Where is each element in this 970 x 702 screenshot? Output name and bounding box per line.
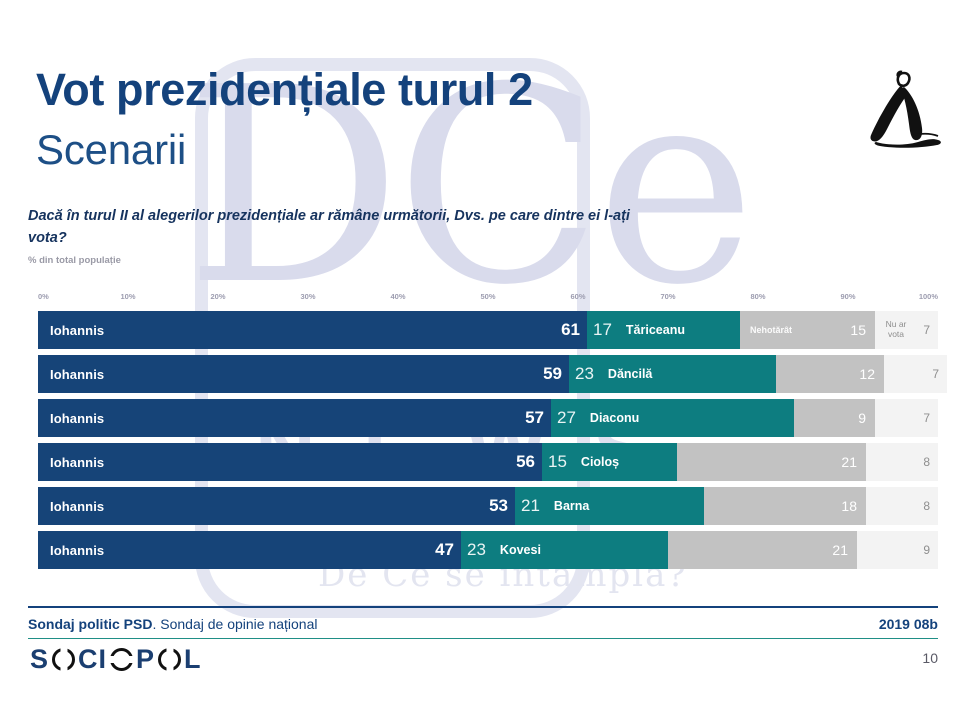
bar-segment-undecided: 21 bbox=[668, 531, 857, 569]
logo-ring-icon-1 bbox=[52, 648, 75, 671]
bar-segment-main: Iohannis56 bbox=[38, 443, 542, 481]
axis-tick: 10% bbox=[120, 292, 135, 301]
bar-challenger-value: 21 bbox=[521, 496, 540, 516]
axis-tick: 30% bbox=[300, 292, 315, 301]
bar-challenger-value: 27 bbox=[557, 408, 576, 428]
bar-undecided-value: 21 bbox=[841, 454, 857, 470]
bar-undecided-value: 9 bbox=[858, 410, 866, 426]
bar-main-label: Iohannis bbox=[50, 323, 104, 338]
bar-challenger-value: 23 bbox=[467, 540, 486, 560]
bar-segment-undecided: 18 bbox=[704, 487, 866, 525]
axis-tick: 80% bbox=[750, 292, 765, 301]
bar-main-value: 47 bbox=[435, 540, 454, 560]
bar-segment-main: Iohannis59 bbox=[38, 355, 569, 393]
bar-novote-value: 7 bbox=[932, 367, 939, 381]
chart-x-axis: 0%10%20%30%40%50%60%70%80%90%100% bbox=[38, 292, 938, 306]
bar-undecided-value: 15 bbox=[850, 322, 866, 338]
bar-segment-challenger: 23Dăncilă bbox=[569, 355, 776, 393]
bar-novote-value: 7 bbox=[923, 411, 930, 425]
bar-undecided-value: 21 bbox=[832, 542, 848, 558]
bar-challenger-label: Tăriceanu bbox=[626, 323, 685, 337]
axis-tick: 20% bbox=[210, 292, 225, 301]
bar-segment-challenger: 21Barna bbox=[515, 487, 704, 525]
bar-undecided-label: Nehotărât bbox=[750, 325, 792, 335]
bar-main-value: 59 bbox=[543, 364, 562, 384]
bar-segment-challenger: 15Cioloș bbox=[542, 443, 677, 481]
bar-main-label: Iohannis bbox=[50, 499, 104, 514]
logo-letter-l: L bbox=[184, 646, 202, 673]
bar-segment-undecided: 21 bbox=[677, 443, 866, 481]
bar-main-value: 57 bbox=[525, 408, 544, 428]
page-subtitle: Scenarii bbox=[36, 126, 186, 174]
chart-row: Iohannis5923Dăncilă127 bbox=[38, 355, 938, 393]
bar-novote-value: 8 bbox=[923, 455, 930, 469]
chart-row: Iohannis5727Diaconu97 bbox=[38, 399, 938, 437]
bar-segment-novote: Nu ar vota7 bbox=[875, 311, 938, 349]
bar-challenger-value: 15 bbox=[548, 452, 567, 472]
stacked-bar-chart: Iohannis6117TăriceanuNehotărât15Nu ar vo… bbox=[38, 311, 938, 575]
axis-tick: 0% bbox=[38, 292, 49, 301]
axis-tick: 60% bbox=[570, 292, 585, 301]
logo-letter-s: S bbox=[30, 646, 49, 673]
page-title: Vot prezidențiale turul 2 bbox=[36, 64, 533, 116]
chart-row: Iohannis6117TăriceanuNehotărât15Nu ar vo… bbox=[38, 311, 938, 349]
bar-challenger-label: Cioloș bbox=[581, 455, 619, 469]
bar-segment-challenger: 27Diaconu bbox=[551, 399, 794, 437]
footer-source-rest: . Sondaj de opinie național bbox=[152, 616, 317, 632]
bar-novote-value: 8 bbox=[923, 499, 930, 513]
bar-segment-challenger: 17Tăriceanu bbox=[587, 311, 740, 349]
bar-challenger-value: 23 bbox=[575, 364, 594, 384]
bar-challenger-label: Kovesi bbox=[500, 543, 541, 557]
bar-main-value: 53 bbox=[489, 496, 508, 516]
bar-segment-undecided: Nehotărât15 bbox=[740, 311, 875, 349]
bar-challenger-label: Barna bbox=[554, 499, 589, 513]
bar-undecided-value: 18 bbox=[841, 498, 857, 514]
bar-segment-main: Iohannis61 bbox=[38, 311, 587, 349]
axis-tick: 70% bbox=[660, 292, 675, 301]
question-text: Dacă în turul II al alegerilor prezidenț… bbox=[28, 205, 668, 250]
bar-challenger-label: Diaconu bbox=[590, 411, 639, 425]
bar-segment-challenger: 23Kovesi bbox=[461, 531, 668, 569]
bar-main-label: Iohannis bbox=[50, 455, 104, 470]
footer-wave: 2019 08b bbox=[879, 616, 938, 632]
bar-novote-value: 7 bbox=[923, 323, 930, 337]
logo-letters-ci: CI bbox=[78, 646, 107, 673]
chart-row: Iohannis4723Kovesi219 bbox=[38, 531, 938, 569]
footer-divider-teal bbox=[28, 638, 938, 639]
axis-tick: 40% bbox=[390, 292, 405, 301]
bar-segment-novote: 7 bbox=[875, 399, 938, 437]
bar-challenger-label: Dăncilă bbox=[608, 367, 652, 381]
logo-ring-icon-2 bbox=[110, 648, 133, 671]
logo-ring-icon-3 bbox=[158, 648, 181, 671]
axis-tick: 100% bbox=[919, 292, 938, 301]
chart-row: Iohannis5321Barna188 bbox=[38, 487, 938, 525]
ink-figure-icon bbox=[852, 62, 957, 160]
bar-segment-undecided: 9 bbox=[794, 399, 875, 437]
footer-source-bold: Sondaj politic PSD bbox=[28, 616, 152, 632]
question-note: % din total populație bbox=[28, 255, 121, 266]
bar-segment-novote: 7 bbox=[884, 355, 947, 393]
logo-letter-p: P bbox=[136, 646, 155, 673]
bar-novote-value: 9 bbox=[923, 543, 930, 557]
bar-segment-undecided: 12 bbox=[776, 355, 884, 393]
sociopol-logo: S CI P L bbox=[30, 645, 202, 673]
bar-undecided-value: 12 bbox=[859, 366, 875, 382]
bar-main-label: Iohannis bbox=[50, 411, 104, 426]
bar-main-label: Iohannis bbox=[50, 543, 104, 558]
bar-segment-main: Iohannis57 bbox=[38, 399, 551, 437]
bar-segment-novote: 8 bbox=[866, 443, 938, 481]
bar-segment-novote: 8 bbox=[866, 487, 938, 525]
bar-segment-main: Iohannis53 bbox=[38, 487, 515, 525]
footer-divider bbox=[28, 606, 938, 608]
axis-tick: 50% bbox=[480, 292, 495, 301]
bar-segment-novote: 9 bbox=[857, 531, 938, 569]
bar-segment-main: Iohannis47 bbox=[38, 531, 461, 569]
bar-main-value: 56 bbox=[516, 452, 535, 472]
axis-tick: 90% bbox=[840, 292, 855, 301]
chart-row: Iohannis5615Cioloș218 bbox=[38, 443, 938, 481]
bar-main-value: 61 bbox=[561, 320, 580, 340]
bar-main-label: Iohannis bbox=[50, 367, 104, 382]
bar-challenger-value: 17 bbox=[593, 320, 612, 340]
slide-canvas: DCe N E W S De Ce se întâmplă? Vot prezi… bbox=[0, 0, 970, 702]
bar-novote-label: Nu ar vota bbox=[882, 320, 910, 340]
footer-source: Sondaj politic PSD. Sondaj de opinie naț… bbox=[28, 616, 318, 632]
page-number: 10 bbox=[922, 650, 938, 666]
